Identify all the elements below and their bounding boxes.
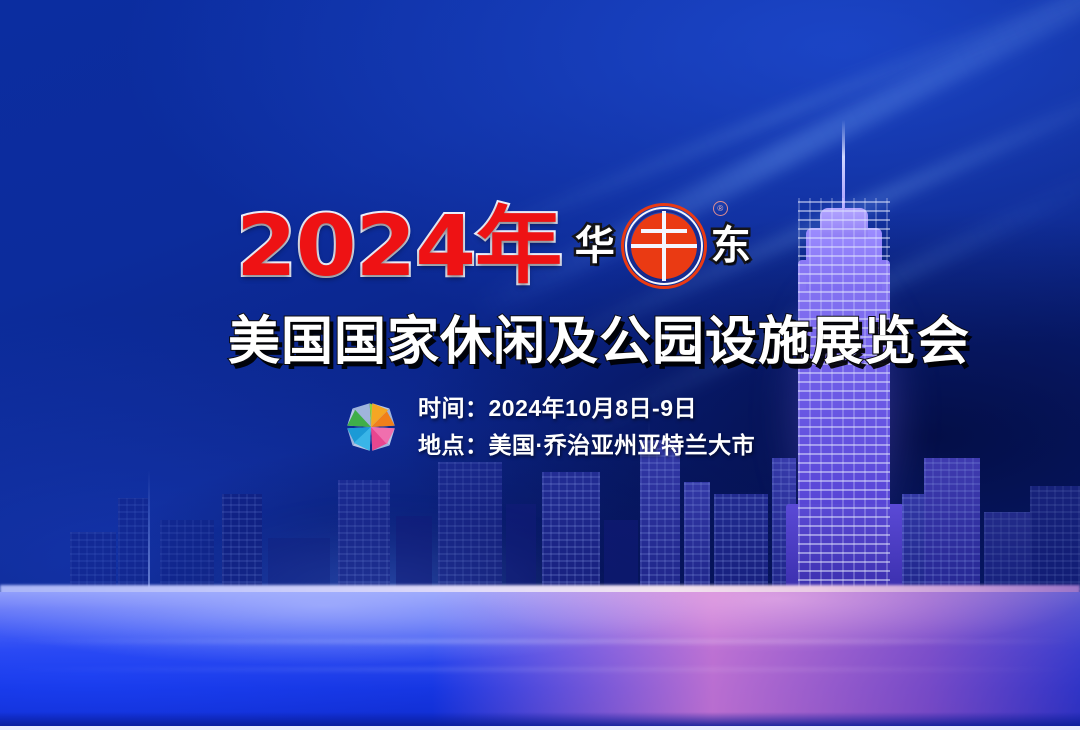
event-info-block: 时间：2024年10月8日-9日 地点：美国·乔治亚州亚特兰大市 — [338, 394, 755, 460]
huadong-circle-emblem-icon: ® — [621, 203, 707, 289]
brand-char-hua: 华 — [575, 226, 615, 266]
headline-row: 2024年 华 ® 东 — [236, 203, 751, 289]
poster-content: 2024年 华 ® 东 美国国家休闲及公园设施展览会 — [0, 0, 1080, 730]
colored-pinwheel-star-icon — [338, 394, 404, 460]
brand-char-dong: 东 — [711, 226, 751, 266]
event-location-line: 地点：美国·乔治亚州亚特兰大市 — [418, 434, 755, 457]
poster-canvas: 2024年 华 ® 东 美国国家休闲及公园设施展览会 — [0, 0, 1080, 730]
year-headline: 2024年 — [236, 204, 561, 288]
registered-trademark-icon: ® — [713, 201, 728, 216]
event-date-line: 时间：2024年10月8日-9日 — [418, 397, 755, 420]
page-title: 美国国家休闲及公园设施展览会 — [228, 316, 970, 368]
event-info-lines: 时间：2024年10月8日-9日 地点：美国·乔治亚州亚特兰大市 — [418, 397, 755, 457]
emblem-top-bar — [641, 229, 687, 233]
brand-lockup: 华 ® 东 — [575, 203, 751, 289]
emblem-vertical-bar — [662, 211, 666, 281]
